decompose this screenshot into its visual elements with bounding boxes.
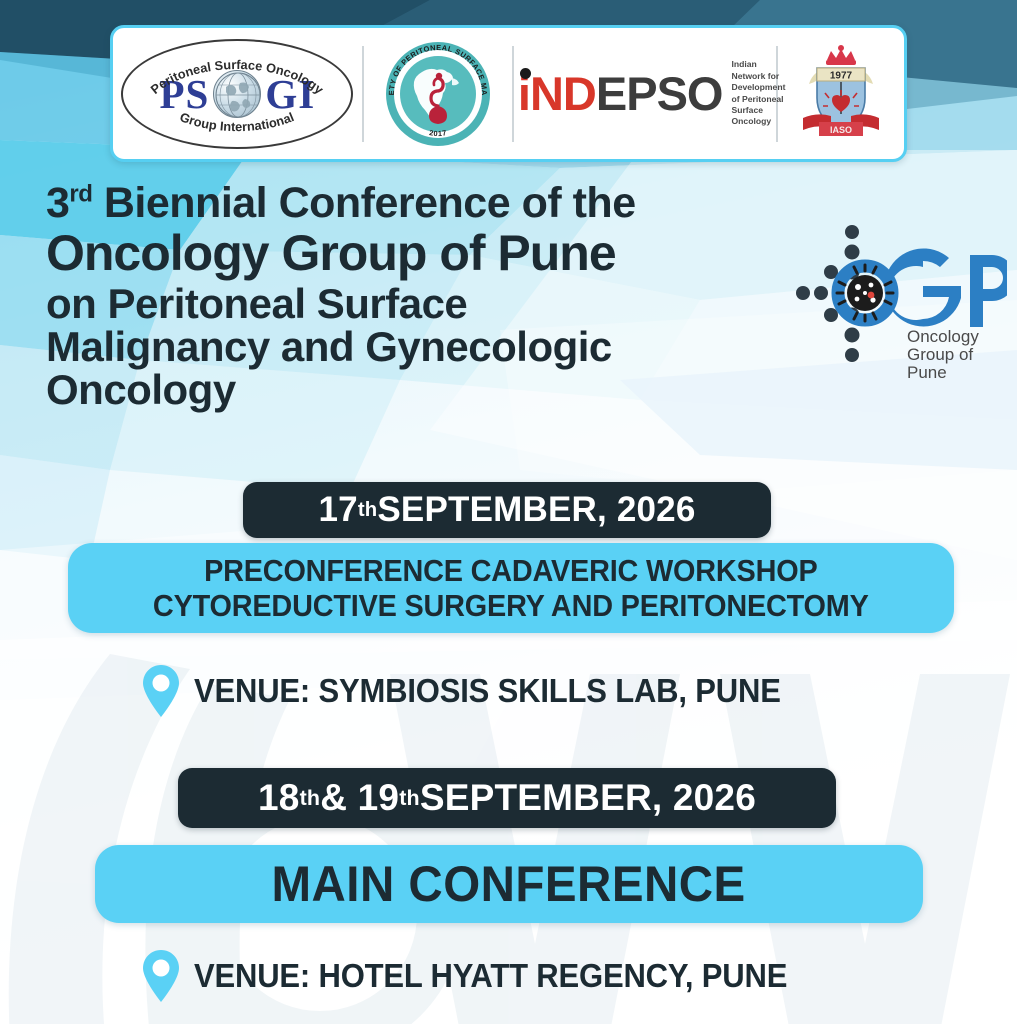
map-pin-icon: [140, 948, 182, 1004]
partner-logo-strip: Peritoneal Surface Oncology Group Intern…: [110, 25, 907, 162]
iaso-banner-text: IASO: [830, 125, 852, 135]
title-line-5: Oncology: [46, 369, 816, 411]
logo-ogp: Oncology Group of Pune: [795, 222, 1007, 380]
title-line-1: 3rd Biennial Conference of the: [46, 182, 816, 225]
date-1-day: 17: [318, 490, 357, 530]
iaso-year: 1977: [830, 70, 853, 81]
title-ordinal-suffix: rd: [69, 181, 92, 208]
logo-iaso: 1977: [778, 28, 904, 159]
date-2-rest: SEPTEMBER, 2026: [420, 777, 756, 819]
venue-preconference: VENUE: SYMBIOSIS SKILLS LAB, PUNE: [140, 663, 818, 719]
globe-icon: [213, 70, 261, 118]
logo-ispsm: INDIAN SOCIETY OF PERITONEAL SURFACE MAL…: [364, 28, 512, 159]
date-badge-main-conference: 18th & 19th SEPTEMBER, 2026: [178, 768, 836, 828]
main-conference-band-text: MAIN CONFERENCE: [272, 855, 746, 913]
logo-psogi: Peritoneal Surface Oncology Group Intern…: [113, 28, 362, 159]
logo-indepso: iNDEPSO Indian Network for Development o…: [514, 28, 776, 159]
title-line-3: on Peritoneal Surface: [46, 283, 816, 325]
date-1-rest: SEPTEMBER, 2026: [377, 490, 695, 530]
date-badge-preconference: 17th SEPTEMBER, 2026: [243, 482, 771, 538]
ispsm-ring-text: INDIAN SOCIETY OF PERITONEAL SURFACE MAL…: [379, 35, 497, 153]
venue-preconference-text: VENUE: SYMBIOSIS SKILLS LAB, PUNE: [194, 672, 781, 710]
ogp-tagline-1: Oncology: [907, 327, 979, 346]
indepso-mark-dark: EPSO: [596, 67, 723, 120]
indepso-dot-icon: [520, 68, 531, 79]
title-ordinal-number: 3: [46, 179, 69, 227]
date-2-mid: & 19: [320, 777, 399, 819]
indepso-wordmark: iNDEPSO: [518, 70, 723, 117]
ogp-tagline-3: Pune: [907, 363, 947, 380]
ispsm-year: 2017: [428, 128, 447, 138]
psogi-oval-frame: Peritoneal Surface Oncology Group Intern…: [121, 39, 353, 149]
conference-poster: Peritoneal Surface Oncology Group Intern…: [0, 0, 1017, 1024]
title-line-2: Oncology Group of Pune: [46, 228, 816, 278]
svg-text:2017: 2017: [428, 128, 447, 138]
crest-shield-crown-icon: 1977: [793, 40, 889, 148]
page-title: 3rd Biennial Conference of the Oncology …: [46, 182, 816, 411]
workshop-band-line-1: PRECONFERENCE CADAVERIC WORKSHOP: [204, 553, 817, 588]
banner-preconference-workshop: PRECONFERENCE CADAVERIC WORKSHOP CYTORED…: [68, 543, 954, 633]
ogp-tagline-2: Group of: [907, 345, 973, 364]
workshop-band-line-2: CYTOREDUCTIVE SURGERY AND PERITONECTOMY: [153, 588, 869, 623]
map-pin-icon: [140, 663, 182, 719]
venue-main-conference: VENUE: HOTEL HYATT REGENCY, PUNE: [140, 948, 825, 1004]
title-line-4: Malignancy and Gynecologic: [46, 326, 816, 368]
banner-main-conference: MAIN CONFERENCE: [95, 845, 923, 923]
date-2-day-1: 18: [258, 777, 300, 819]
venue-main-conference-text: VENUE: HOTEL HYATT REGENCY, PUNE: [194, 957, 787, 995]
title-line-1-rest: Biennial Conference of the: [92, 179, 635, 227]
